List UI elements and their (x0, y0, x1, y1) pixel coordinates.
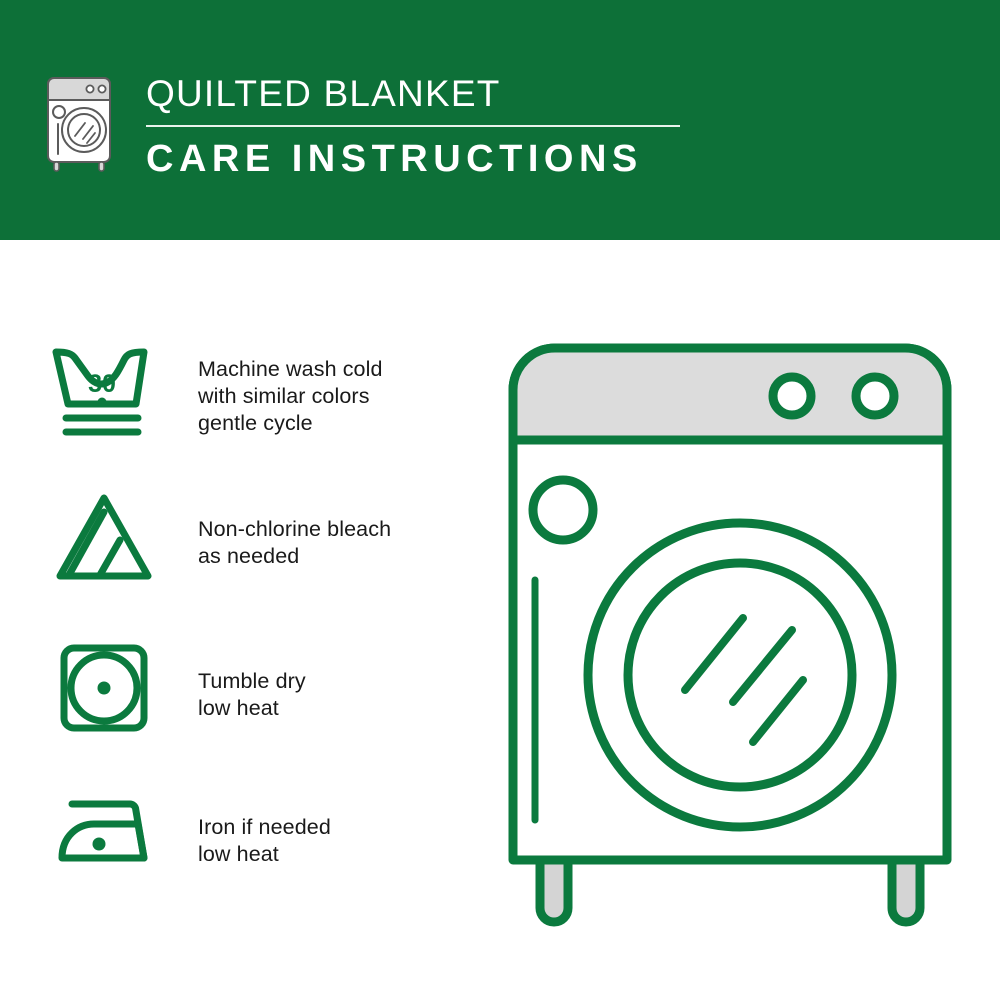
header-title-block: QUILTED BLANKET CARE INSTRUCTIONS (146, 72, 706, 180)
detergent-dispenser (533, 480, 593, 540)
care-label-wash: Machine wash cold with similar colors ge… (160, 342, 383, 437)
wash-temperature-value: 30 (88, 370, 116, 398)
page-subtitle: CARE INSTRUCTIONS (146, 138, 706, 180)
front-load-washing-machine-illustration (495, 330, 965, 940)
care-label-iron: Iron if needed low heat (160, 788, 331, 868)
page-title: QUILTED BLANKET (146, 72, 706, 116)
care-row-tumble-dry: Tumble dry low heat (48, 640, 306, 736)
care-row-wash: 30 Machine wash cold with similar colors… (48, 342, 383, 446)
care-label-tumble-dry: Tumble dry low heat (160, 640, 306, 722)
leg-left (540, 860, 568, 922)
title-divider (146, 125, 680, 127)
wash-tub-icon: 30 (48, 342, 160, 446)
leg-right (892, 860, 920, 922)
header-banner: QUILTED BLANKET CARE INSTRUCTIONS (0, 0, 1000, 240)
door-inner-ring (628, 563, 852, 787)
care-label-bleach: Non-chlorine bleach as needed (160, 490, 391, 570)
care-row-bleach: Non-chlorine bleach as needed (48, 490, 391, 586)
iron-icon (48, 788, 160, 876)
bleach-triangle-icon (48, 490, 160, 586)
washing-machine-icon (42, 68, 128, 172)
care-instructions-page: QUILTED BLANKET CARE INSTRUCTIONS 30 (0, 0, 1000, 1000)
knob-right (856, 377, 894, 415)
care-row-iron: Iron if needed low heat (48, 788, 331, 876)
knob-left (773, 377, 811, 415)
care-instruction-list: 30 Machine wash cold with similar colors… (0, 240, 490, 1000)
tumble-dry-icon (48, 640, 160, 736)
